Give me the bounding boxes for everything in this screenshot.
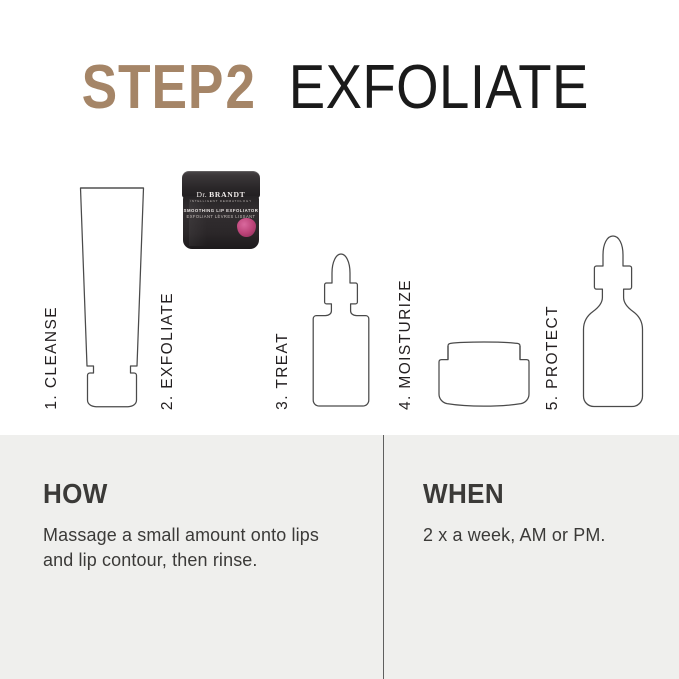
protect-dropper-icon bbox=[577, 232, 649, 410]
when-column: WHEN 2 x a week, AM or PM. bbox=[423, 435, 653, 547]
product-brand: Dr. BRANDT bbox=[182, 191, 260, 199]
how-heading: HOW bbox=[43, 478, 341, 510]
product-brand-name: BRANDT bbox=[209, 190, 245, 199]
routine-step-label-moisturize: 4. MOISTURIZE bbox=[398, 279, 414, 410]
product-jar: Dr. BRANDT INTELLIGENT DERMATOLOGY SMOOT… bbox=[182, 171, 260, 249]
routine-step-label-protect: 5. PROTECT bbox=[545, 305, 561, 410]
product-name-french: EXFOLIANT LÈVRES LISSANT bbox=[182, 215, 260, 219]
panel-divider bbox=[383, 435, 384, 679]
routine-step-treat: 3. TREAT bbox=[275, 150, 380, 410]
product-tagline: INTELLIGENT DERMATOLOGY bbox=[182, 200, 260, 203]
when-heading: WHEN bbox=[423, 478, 637, 510]
product-jar-body bbox=[183, 196, 259, 249]
step-word: STEP bbox=[82, 52, 225, 123]
moisturize-jar-icon bbox=[438, 328, 530, 410]
routine-steps-row: 1. CLEANSE 2. EXFOLIATE 3. TREAT 4. MOIS… bbox=[0, 150, 679, 410]
product-jar-highlight bbox=[189, 199, 207, 246]
page-title: STEP 2 EXFOLIATE bbox=[70, 52, 613, 123]
cleanse-tube-icon bbox=[70, 160, 154, 410]
how-column: HOW Massage a small amount onto lips and… bbox=[43, 435, 363, 573]
treat-dropper-icon bbox=[308, 245, 374, 410]
instructions-panel: HOW Massage a small amount onto lips and… bbox=[0, 435, 679, 679]
how-body: Massage a small amount onto lips and lip… bbox=[43, 522, 353, 573]
routine-step-cleanse: 1. CLEANSE bbox=[44, 150, 154, 410]
routine-step-label-cleanse: 1. CLEANSE bbox=[44, 306, 60, 410]
when-body: 2 x a week, AM or PM. bbox=[423, 522, 646, 547]
product-name-english: SMOOTHING LIP EXFOLIATOR bbox=[182, 209, 260, 213]
routine-step-label-treat: 3. TREAT bbox=[275, 332, 291, 410]
routine-step-moisturize: 4. MOISTURIZE bbox=[398, 150, 528, 410]
routine-step-label-exfoliate: 2. EXFOLIATE bbox=[160, 292, 176, 410]
product-brand-prefix: Dr. bbox=[197, 190, 207, 199]
step-title: EXFOLIATE bbox=[235, 52, 590, 123]
routine-step-protect: 5. PROTECT bbox=[545, 150, 655, 410]
heart-accent-icon bbox=[237, 218, 256, 237]
